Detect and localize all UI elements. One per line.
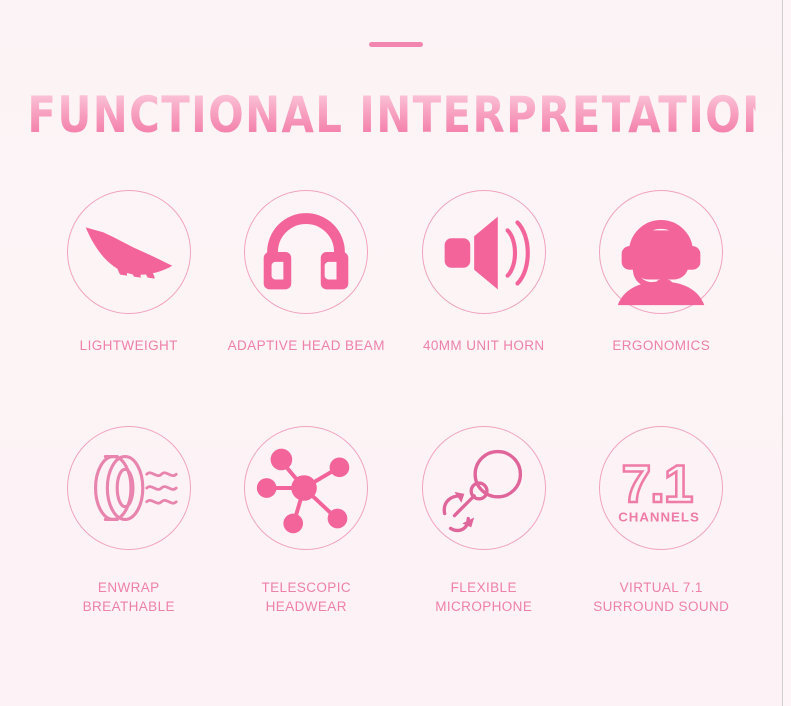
feather-icon [68, 191, 190, 313]
headphones-icon [245, 191, 367, 313]
molecule-nodes-icon [245, 427, 367, 549]
feature-label: FLEXIBLE MICROPHONE [435, 578, 532, 616]
feature-label: TELESCOPIC HEADWEAR [261, 578, 351, 616]
ear-cushion-airflow-icon [68, 427, 190, 549]
icon-circle [244, 190, 368, 314]
promo-panel: FUNCTIONAL INTERPRETATION [0, 0, 783, 706]
feature-item-unit-horn[interactable]: 40MM UNIT HORN [395, 190, 573, 386]
channels-sublabel: CHANNELS [618, 509, 700, 524]
feature-item-telescopic-headwear[interactable]: TELESCOPIC HEADWEAR [218, 426, 396, 616]
icon-circle [244, 426, 368, 550]
icon-circle [599, 190, 723, 314]
feature-item-flexible-microphone[interactable]: FLEXIBLE MICROPHONE [395, 426, 573, 616]
feature-label: LIGHTWEIGHT [80, 336, 178, 355]
feature-label: VIRTUAL 7.1 SURROUND SOUND [593, 578, 729, 616]
feature-item-virtual-surround[interactable]: 7.1 CHANNELS VIRTUAL 7.1 SURROUND SOUND [573, 426, 751, 616]
feature-label: ERGONOMICS [612, 336, 710, 355]
feature-grid: LIGHTWEIGHT ADAPTIVE HEAD BEA [40, 190, 750, 616]
rotating-microphone-icon [423, 427, 545, 549]
feature-item-enwrap-breathable[interactable]: ENWRAP BREATHABLE [40, 426, 218, 616]
feature-label: ADAPTIVE HEAD BEAM [228, 336, 385, 355]
title-divider [369, 42, 423, 47]
seven-one-channels-icon: 7.1 CHANNELS [600, 427, 722, 549]
feature-item-ergonomics[interactable]: ERGONOMICS [573, 190, 751, 386]
feature-item-lightweight[interactable]: LIGHTWEIGHT [40, 190, 218, 386]
feature-row: LIGHTWEIGHT ADAPTIVE HEAD BEA [40, 190, 750, 386]
icon-circle [422, 426, 546, 550]
feature-row: ENWRAP BREATHABLE [40, 426, 750, 616]
channels-number: 7.1 [622, 455, 693, 514]
icon-circle: 7.1 CHANNELS [599, 426, 723, 550]
feature-label: 40MM UNIT HORN [423, 336, 545, 355]
feature-label: ENWRAP BREATHABLE [83, 578, 175, 616]
feature-item-adaptive-head-beam[interactable]: ADAPTIVE HEAD BEAM [218, 190, 396, 386]
speaker-horn-icon [423, 191, 545, 313]
icon-circle [422, 190, 546, 314]
page-title: FUNCTIONAL INTERPRETATION [27, 86, 755, 144]
person-headset-icon [600, 191, 722, 313]
icon-circle [67, 426, 191, 550]
icon-circle [67, 190, 191, 314]
